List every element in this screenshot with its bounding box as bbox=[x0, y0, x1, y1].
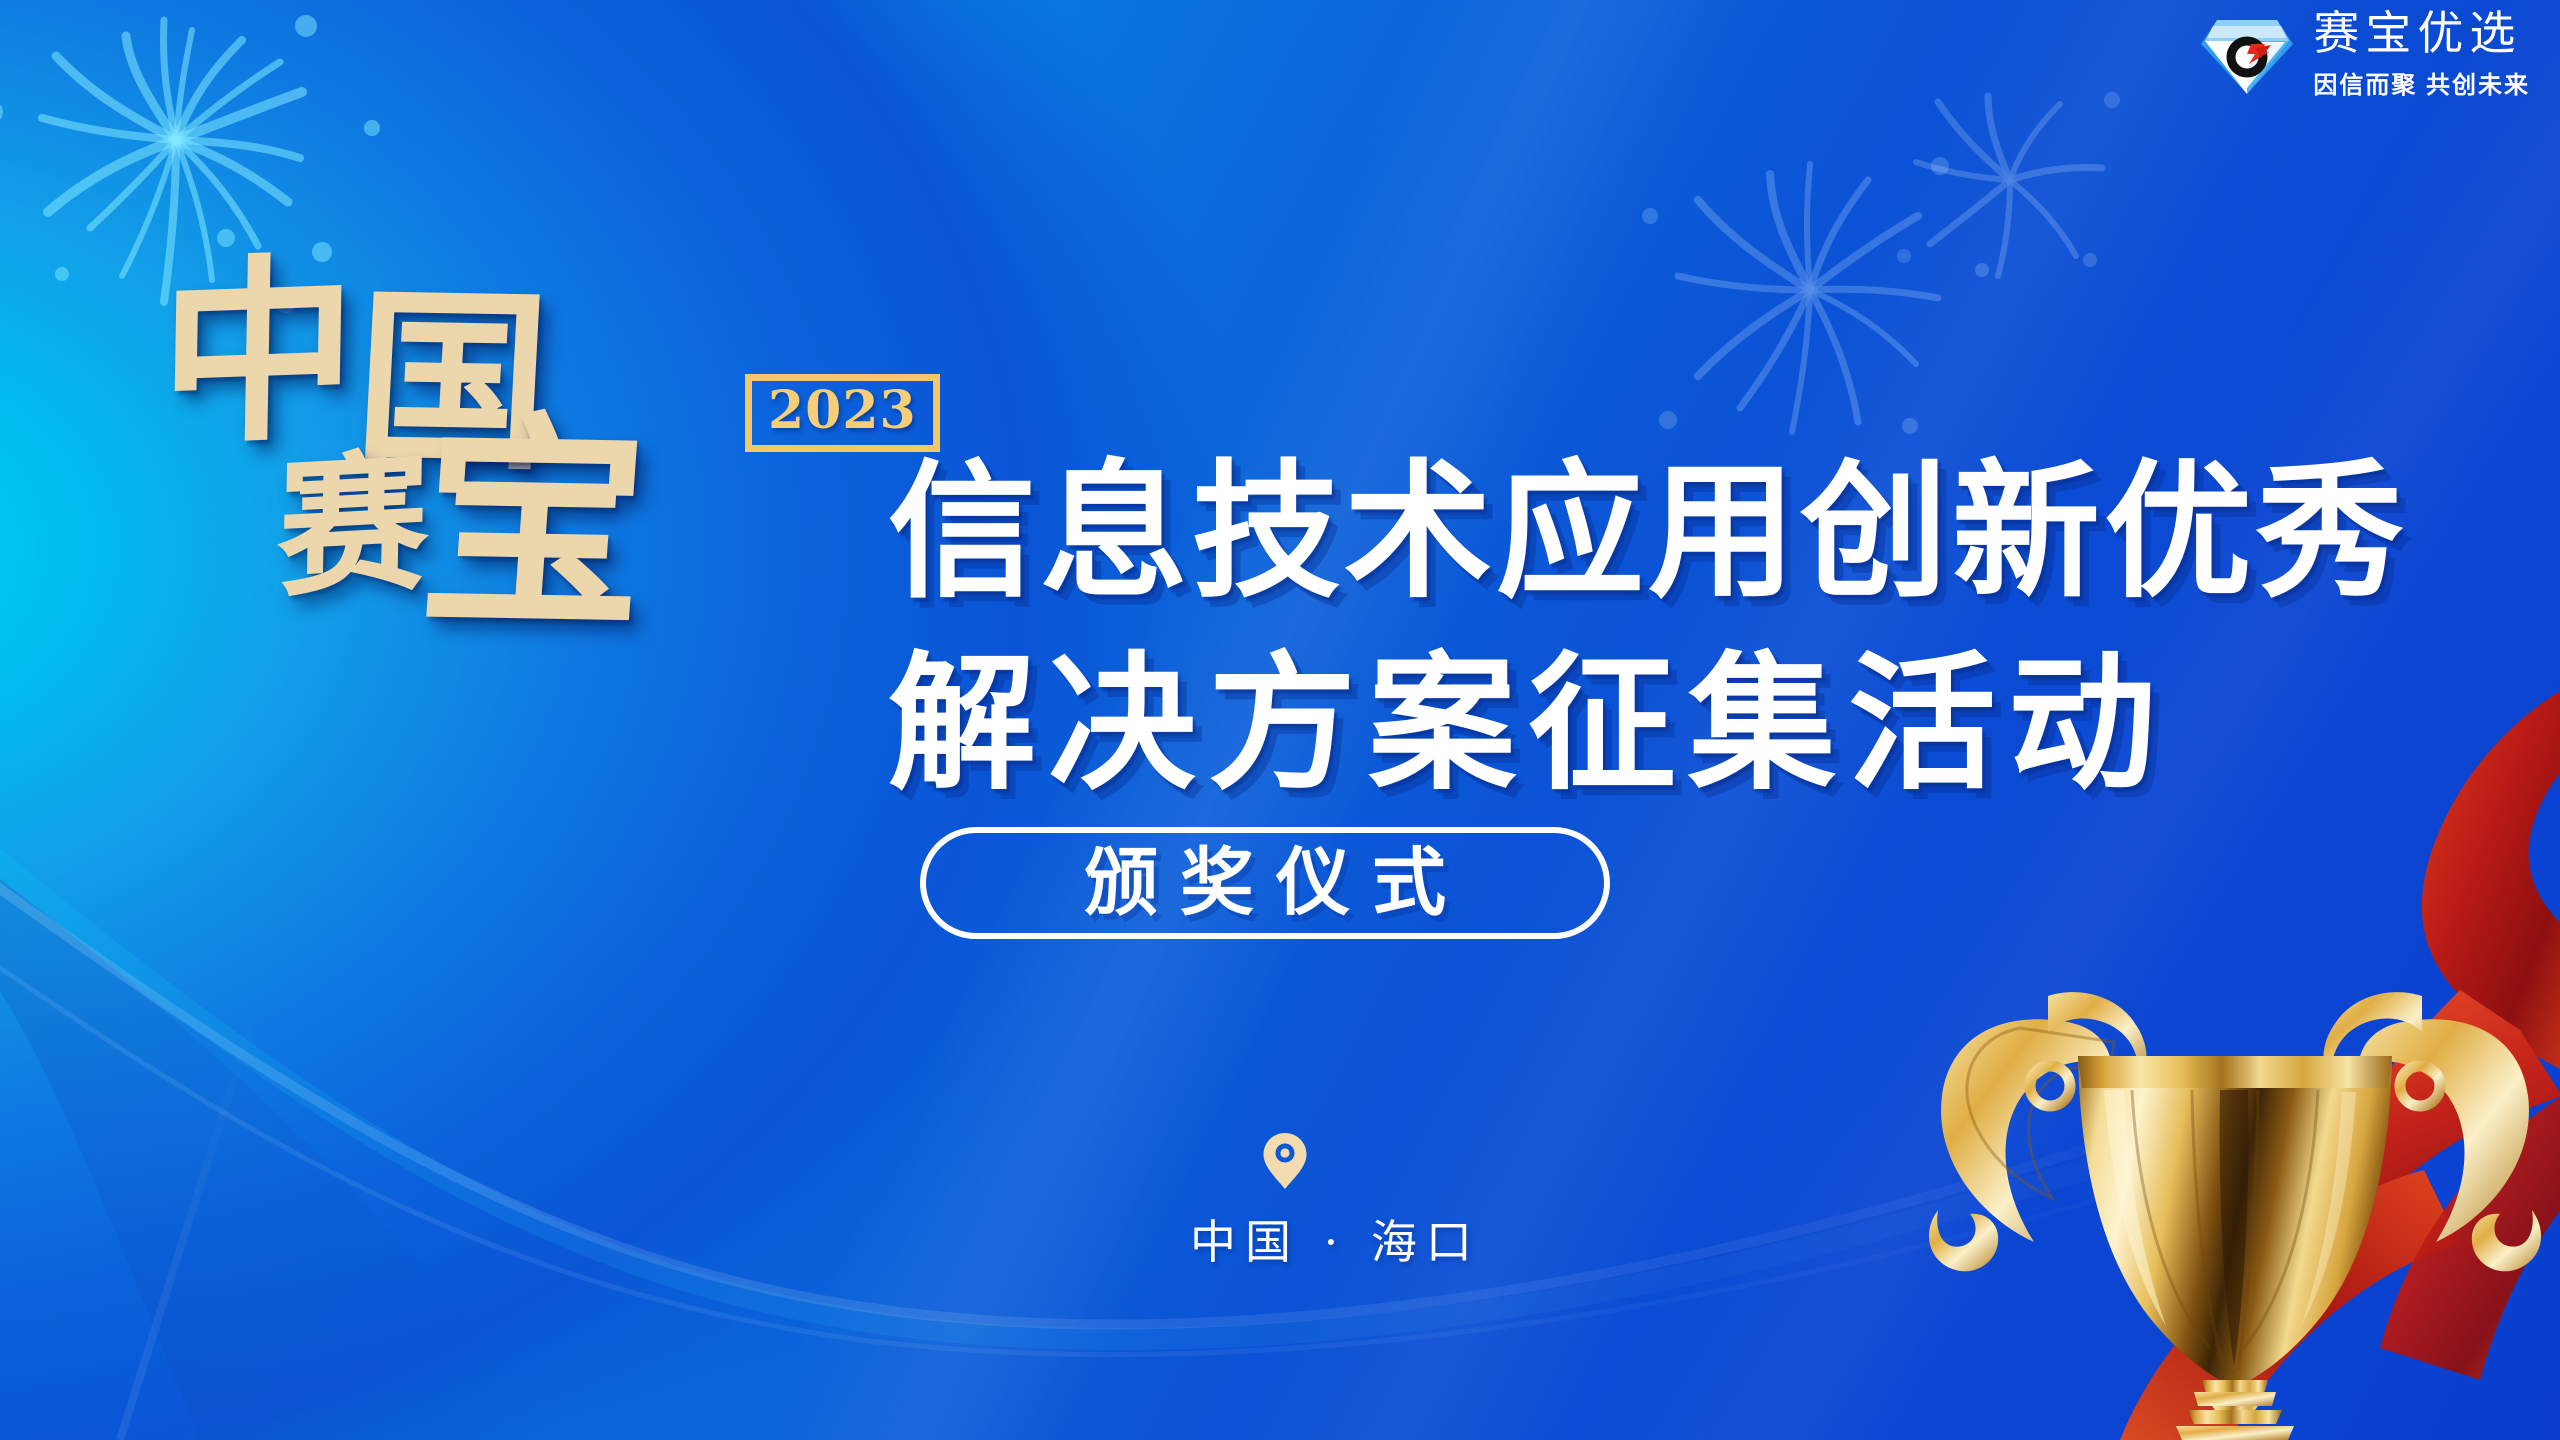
poster-canvas: 赛宝优选 因信而聚 共创未来 中 国 赛 宝 2023 信息技术应用创新优秀 解… bbox=[0, 0, 2560, 1440]
headline-block: 信息技术应用创新优秀 解决方案征集活动 bbox=[888, 436, 2408, 821]
brand-logo[interactable]: 赛宝优选 因信而聚 共创未来 bbox=[2199, 8, 2530, 100]
calligraphy-title: 中 国 赛 宝 bbox=[160, 235, 780, 635]
map-pin-icon bbox=[1262, 1132, 1308, 1190]
headline-line-2: 解决方案征集活动 bbox=[888, 628, 2408, 820]
headline-line-1: 信息技术应用创新优秀 bbox=[888, 436, 2408, 628]
brand-slogan: 因信而聚 共创未来 bbox=[2313, 65, 2530, 100]
calligraphy-char-bao: 宝 bbox=[414, 411, 654, 639]
location-block: 中国 · 海口 bbox=[1190, 1132, 1380, 1272]
calligraphy-char-sai: 赛 bbox=[277, 447, 429, 605]
brand-name: 赛宝优选 bbox=[2313, 8, 2530, 59]
red-ribbon-icon bbox=[2422, 680, 2560, 1080]
ceremony-pill-label: 颁奖仪式 bbox=[1062, 846, 1468, 920]
location-label: 中国 · 海口 bbox=[1190, 1206, 1380, 1272]
firework-burst-icon-right-small bbox=[1880, 60, 2140, 290]
ceremony-pill: 颁奖仪式 bbox=[920, 827, 1610, 939]
firework-burst-icon-right bbox=[1610, 120, 2010, 450]
calligraphy-char-zhong: 中 bbox=[158, 251, 357, 454]
diamond-logo-icon bbox=[2199, 14, 2295, 98]
